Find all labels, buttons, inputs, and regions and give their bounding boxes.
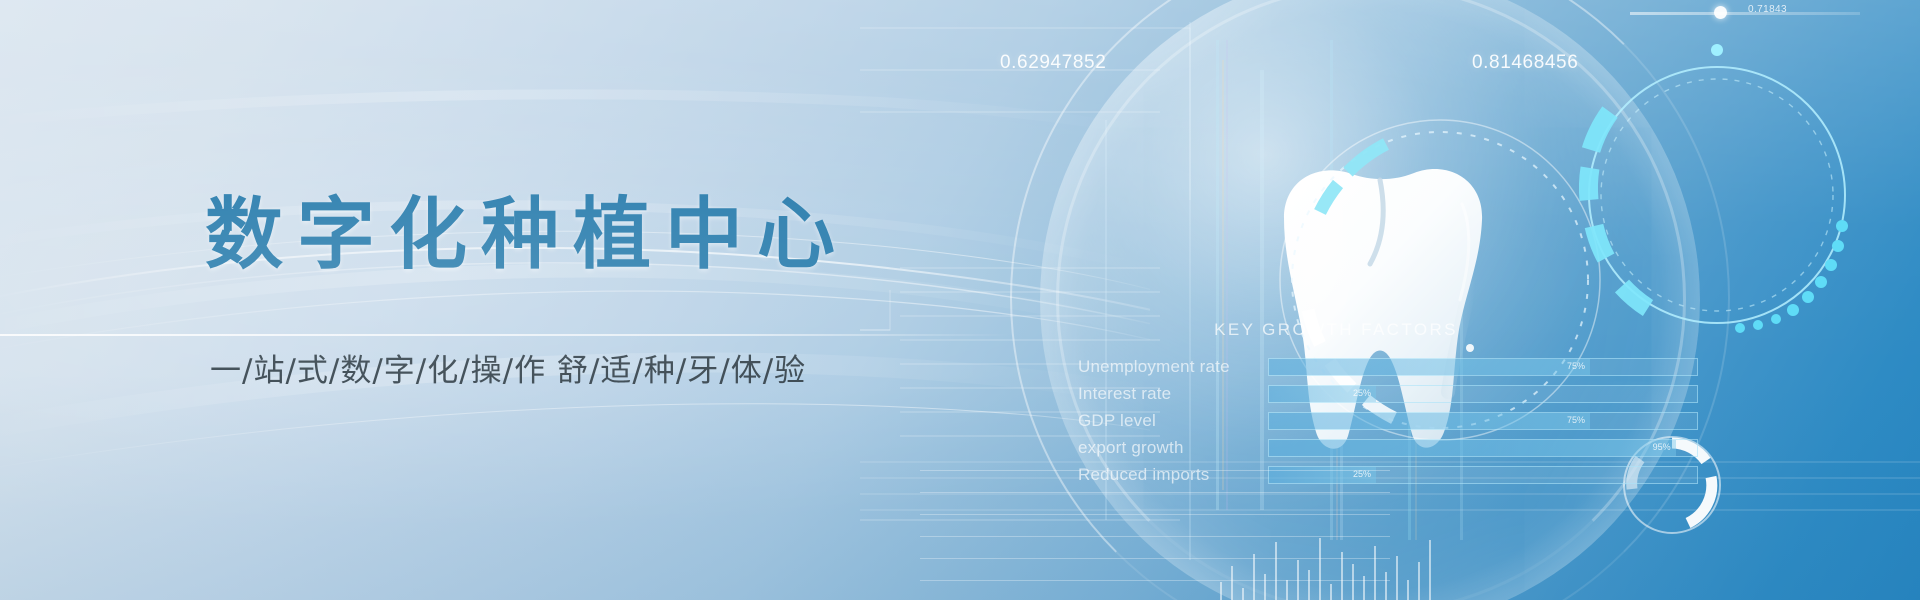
factor-percent: 25% bbox=[1353, 388, 1376, 398]
factor-percent: 75% bbox=[1567, 361, 1590, 371]
factor-bar: 75% bbox=[1268, 412, 1698, 430]
chart-bar bbox=[1275, 542, 1277, 600]
factor-bar: 75% bbox=[1268, 358, 1698, 376]
factor-percent: 75% bbox=[1567, 415, 1590, 425]
factor-row: Interest rate25% bbox=[1078, 383, 1698, 405]
key-growth-factors-panel: KEY GROWTH FACTORS Unemployment rate75%I… bbox=[1078, 320, 1698, 491]
slider-value: 0.71843 bbox=[1748, 4, 1787, 15]
chart-bar bbox=[1220, 582, 1222, 600]
factor-row: Unemployment rate75% bbox=[1078, 356, 1698, 378]
chart-bar bbox=[1264, 574, 1266, 600]
chart-bar bbox=[1242, 588, 1244, 600]
bottom-bar-chart bbox=[920, 470, 1440, 600]
dental-clinic-banner: KEY GROWTH FACTORS Unemployment rate75%I… bbox=[0, 0, 1920, 600]
chart-bar bbox=[1297, 560, 1299, 600]
chart-bar bbox=[1363, 576, 1365, 600]
chart-bar bbox=[1330, 584, 1332, 600]
readout-right: 0.81468456 bbox=[1472, 52, 1578, 74]
panel-title: KEY GROWTH FACTORS bbox=[1126, 320, 1546, 340]
factor-row: export growth95% bbox=[1078, 437, 1698, 459]
chart-bar bbox=[1231, 566, 1233, 600]
factor-label: GDP level bbox=[1078, 411, 1268, 431]
chart-bar bbox=[1352, 564, 1354, 600]
chart-bar bbox=[1253, 554, 1255, 600]
factor-label: Interest rate bbox=[1078, 384, 1268, 404]
hud-ring-icon bbox=[1552, 30, 1882, 360]
chart-bar bbox=[1308, 570, 1310, 600]
chart-bar bbox=[1319, 538, 1321, 600]
factor-bar: 95% bbox=[1268, 439, 1698, 457]
chart-bar bbox=[1341, 552, 1343, 600]
page-title: 数字化种植中心 bbox=[205, 196, 849, 274]
factor-bar-fill bbox=[1269, 440, 1676, 456]
factor-bar-fill bbox=[1269, 359, 1590, 375]
factor-bar-fill bbox=[1269, 413, 1590, 429]
chart-gridline bbox=[920, 492, 1390, 493]
hud-slider[interactable]: 0.71843 bbox=[1630, 6, 1860, 20]
chart-bar bbox=[1429, 540, 1431, 600]
tech-graphic-panel: KEY GROWTH FACTORS Unemployment rate75%I… bbox=[860, 0, 1920, 600]
chart-gridline bbox=[920, 536, 1390, 537]
chart-gridline bbox=[920, 514, 1390, 515]
chart-bar bbox=[1286, 580, 1288, 600]
corner-arcs bbox=[1560, 520, 1920, 600]
readout-left: 0.62947852 bbox=[1000, 52, 1106, 74]
slider-knob[interactable] bbox=[1714, 6, 1727, 19]
factor-bar: 25% bbox=[1268, 385, 1698, 403]
chart-bar bbox=[1407, 580, 1409, 600]
panel-rows: Unemployment rate75%Interest rate25%GDP … bbox=[1078, 356, 1698, 486]
chart-bar bbox=[1418, 562, 1420, 600]
factor-row: GDP level75% bbox=[1078, 410, 1698, 432]
chart-bar bbox=[1385, 572, 1387, 600]
factor-percent: 95% bbox=[1653, 442, 1676, 452]
page-subtitle: 一/站/式/数/字/化/操/作 舒/适/种/牙/体/验 bbox=[210, 345, 806, 390]
factor-label: Unemployment rate bbox=[1078, 357, 1268, 377]
factor-label: export growth bbox=[1078, 438, 1268, 458]
slider-track[interactable] bbox=[1630, 12, 1860, 15]
chart-bar bbox=[1396, 556, 1398, 600]
chart-bar bbox=[1374, 546, 1376, 600]
chart-gridline bbox=[920, 470, 1390, 471]
title-divider bbox=[0, 334, 1010, 336]
